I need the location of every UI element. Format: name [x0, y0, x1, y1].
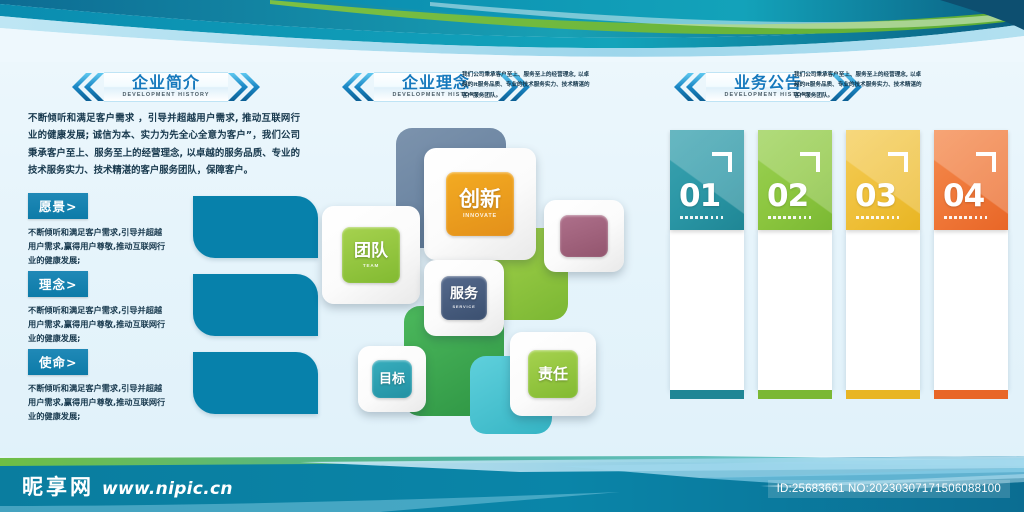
poster-canvas: 企业简介 DEVELOPMENT HISTORY 不断倾听和满足客户需求 ，引导… [0, 0, 1024, 512]
announcement-card-03[interactable]: 03 [846, 130, 920, 399]
value-card-innovate: 创新 INNOVATE [424, 148, 536, 260]
value-card-en: TEAM [363, 263, 379, 268]
values-diagram: 创新 INNOVATE 团队 TEAM 服务 SERVICE 目标 责任 [318, 128, 658, 458]
value-block-mission: 使命> 不断倾听和满足客户需求,引导并超越用户需求,赢得用户尊敬,推动互联网行业… [28, 349, 300, 421]
site-logo: 昵享网 www.nipic.cn [22, 471, 233, 501]
value-card-en: INNOVATE [463, 213, 497, 219]
philosophy-note: 我们公司秉承客户至上、服务至上的经营理念, 以卓越的it服务品质、专业的技术服务… [462, 70, 590, 101]
dot-row [680, 216, 723, 219]
announcement-body-02[interactable] [758, 230, 832, 390]
badge-core: 企业简介 DEVELOPMENT HISTORY [104, 72, 228, 103]
section-title-cn: 企业简介 [132, 75, 200, 92]
announcement-body-03[interactable] [846, 230, 920, 390]
value-shape [193, 352, 318, 414]
announcement-head-04: 04 [934, 130, 1008, 230]
top-decorative-ribbon [0, 0, 1024, 62]
corner-bracket-icon [888, 152, 908, 172]
announcement-foot-04 [934, 390, 1008, 399]
announcement-number: 02 [767, 181, 808, 212]
announcement-card-02[interactable]: 02 [758, 130, 832, 399]
logo-url-text: www.nipic.cn [102, 479, 233, 499]
intro-paragraph: 不断倾听和满足客户需求 ，引导并超越用户需求, 推动互联网行业的健康发展; 诚信… [28, 110, 300, 180]
announcement-foot-02 [758, 390, 832, 399]
announcement-body-01[interactable] [670, 230, 744, 390]
value-card-team-inner: 团队 TEAM [342, 227, 400, 283]
announcement-note: 我们公司秉承客户至上、服务至上的经营理念, 以卓越的it服务品质、专业的技术服务… [794, 70, 922, 101]
image-id-tag: ID:25683661 NO:20230307171506088100 [768, 480, 1010, 498]
section-title-cn: 企业理念 [402, 75, 470, 92]
announcement-number: 01 [679, 181, 720, 212]
value-card-accent-inner [560, 215, 608, 257]
announcement-card-04[interactable]: 04 [934, 130, 1008, 399]
value-label: 使命> [28, 349, 88, 375]
announcement-card-01[interactable]: 01 [670, 130, 744, 399]
value-card-cn: 服务 [450, 287, 478, 301]
company-profile-body: 不断倾听和满足客户需求 ，引导并超越用户需求, 推动互联网行业的健康发展; 诚信… [28, 110, 300, 180]
dot-row [944, 216, 987, 219]
value-card-goal: 目标 [358, 346, 426, 412]
value-card-accent [544, 200, 624, 272]
value-shape [193, 274, 318, 336]
value-card-responsibility-inner: 责任 [528, 350, 578, 398]
announcement-foot-03 [846, 390, 920, 399]
announcement-head-02: 02 [758, 130, 832, 230]
corner-bracket-icon [976, 152, 996, 172]
value-card-cn: 目标 [379, 373, 405, 386]
chevron-right-icon [228, 72, 262, 102]
corner-bracket-icon [712, 152, 732, 172]
value-text: 不断倾听和满足客户需求,引导并超越用户需求,赢得用户尊敬,推动互联网行业的健康发… [28, 303, 168, 345]
announcement-number: 03 [855, 181, 896, 212]
value-block-vision: 愿景> 不断倾听和满足客户需求,引导并超越用户需求,赢得用户尊敬,推动互联网行业… [28, 193, 300, 265]
value-text: 不断倾听和满足客户需求,引导并超越用户需求,赢得用户尊敬,推动互联网行业的健康发… [28, 225, 168, 267]
section-badge-company-profile: 企业简介 DEVELOPMENT HISTORY [70, 70, 262, 104]
dot-row [768, 216, 811, 219]
value-label: 理念> [28, 271, 88, 297]
value-card-responsibility: 责任 [510, 332, 596, 416]
value-card-en: SERVICE [452, 304, 475, 309]
value-card-service: 服务 SERVICE [424, 260, 504, 336]
value-card-team: 团队 TEAM [322, 206, 420, 304]
value-shape [193, 196, 318, 258]
announcement-number: 04 [943, 181, 984, 212]
dot-row [856, 216, 899, 219]
chevron-left-icon [70, 72, 104, 102]
announcement-cards: 01 02 03 [670, 130, 1008, 430]
value-card-innovate-inner: 创新 INNOVATE [446, 172, 514, 236]
logo-cn-text: 昵享网 [22, 471, 94, 501]
announcement-head-03: 03 [846, 130, 920, 230]
value-card-goal-inner: 目标 [372, 360, 412, 398]
value-card-cn: 责任 [538, 367, 568, 382]
chevron-left-icon [672, 72, 706, 102]
value-card-cn: 团队 [354, 243, 388, 260]
value-block-philosophy: 理念> 不断倾听和满足客户需求,引导并超越用户需求,赢得用户尊敬,推动互联网行业… [28, 271, 300, 343]
section-title-cn: 业务公告 [734, 75, 802, 92]
corner-bracket-icon [800, 152, 820, 172]
chevron-left-icon [340, 72, 374, 102]
announcement-head-01: 01 [670, 130, 744, 230]
value-card-service-inner: 服务 SERVICE [441, 276, 487, 320]
value-text: 不断倾听和满足客户需求,引导并超越用户需求,赢得用户尊敬,推动互联网行业的健康发… [28, 381, 168, 423]
section-title-en: DEVELOPMENT HISTORY [122, 92, 209, 98]
announcement-body-04[interactable] [934, 230, 1008, 390]
value-card-cn: 创新 [459, 189, 501, 210]
announcement-foot-01 [670, 390, 744, 399]
value-label: 愿景> [28, 193, 88, 219]
